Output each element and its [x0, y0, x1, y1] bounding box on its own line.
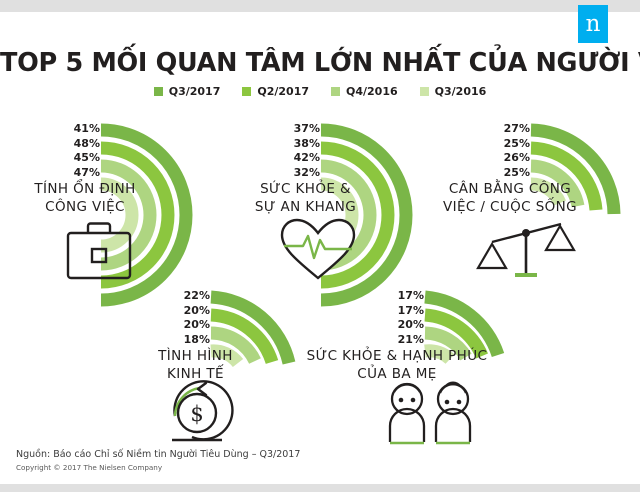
category-label-line2: SỰ AN KHANG [228, 198, 383, 216]
value-q2-2017: 20% [142, 304, 210, 319]
value-q4-2016: 20% [356, 318, 424, 333]
legend-item-q3-2017: Q3/2017 [154, 85, 221, 98]
category-label-line1: SỨC KHỎE & HẠNH PHÚC [292, 347, 502, 365]
panel-job-security: 41% 48% 45% 47% TÍNH ỔN ĐỊNH CÔNG VIỆC [38, 118, 223, 283]
value-q2-2017: 25% [462, 137, 530, 152]
value-q4-2016: 45% [32, 151, 100, 166]
value-q4-2016: 20% [142, 318, 210, 333]
value-q2-2017: 48% [32, 137, 100, 152]
category-label-line2: CỦA BA MẸ [292, 365, 502, 383]
panel-health-wellbeing: 37% 38% 42% 32% SỨC KHỎE & SỰ AN KHANG [258, 118, 443, 283]
value-q3-2017: 27% [462, 122, 530, 137]
infographic-root: n TOP 5 MỐI QUAN TÂM LỚN NHẤT CỦA NGƯỜI … [0, 0, 640, 492]
value-q3-2016: 21% [356, 333, 424, 348]
bottom-band [0, 484, 640, 492]
value-q3-2017: 37% [252, 122, 320, 137]
legend-label: Q4/2016 [346, 85, 398, 98]
value-q3-2016: 32% [252, 166, 320, 181]
copyright-text: Copyright © 2017 The Nielsen Company [16, 462, 300, 474]
value-column-economy: 22% 20% 20% 18% [142, 289, 210, 347]
category-label-work-life-balance: CÂN BẰNG CÔNG VIỆC / CUỘC SỐNG [424, 180, 596, 216]
value-q3-2016: 25% [462, 166, 530, 181]
legend-item-q4-2016: Q4/2016 [331, 85, 398, 98]
value-column-health-wellbeing: 37% 38% 42% 32% [252, 122, 320, 180]
legend-label: Q2/2017 [257, 85, 309, 98]
category-label-line2: CÔNG VIỆC [10, 198, 160, 216]
panel-work-life-balance: 27% 25% 26% 25% CÂN BẰNG CÔNG VIỆC / CUỘ… [468, 118, 640, 283]
legend-label: Q3/2016 [435, 85, 487, 98]
value-column-work-life-balance: 27% 25% 26% 25% [462, 122, 530, 180]
value-q3-2016: 47% [32, 166, 100, 181]
dollar-cycle-icon: $ [172, 381, 232, 440]
legend-item-q2-2017: Q2/2017 [242, 85, 309, 98]
parents-icon [390, 383, 470, 443]
value-q3-2016: 18% [142, 333, 210, 348]
category-label-job-security: TÍNH ỔN ĐỊNH CÔNG VIỆC [10, 180, 160, 216]
nielsen-logo: n [578, 5, 608, 43]
value-q4-2016: 26% [462, 151, 530, 166]
category-label-health-wellbeing: SỨC KHỎE & SỰ AN KHANG [228, 180, 383, 216]
category-label-line1: TÌNH HÌNH [118, 347, 273, 365]
category-label-economy: TÌNH HÌNH KINH TẾ [118, 347, 273, 383]
value-column-job-security: 41% 48% 45% 47% [32, 122, 100, 180]
balance-scale-icon [478, 224, 574, 275]
panel-parents-health: 17% 17% 20% 21% SỨC KHỎE & HẠNH PHÚC CỦA… [362, 285, 547, 450]
source-text: Nguồn: Báo cáo Chỉ số Niềm tin Người Tiê… [16, 448, 300, 462]
category-label-line1: TÍNH ỔN ĐỊNH [10, 180, 160, 198]
value-q2-2017: 38% [252, 137, 320, 152]
legend-swatch-icon [331, 87, 340, 96]
value-q3-2017: 41% [32, 122, 100, 137]
legend-label: Q3/2017 [169, 85, 221, 98]
heart-pulse-icon [282, 220, 354, 278]
value-q2-2017: 17% [356, 304, 424, 319]
category-label-line1: CÂN BẰNG CÔNG [424, 180, 596, 198]
legend-swatch-icon [154, 87, 163, 96]
legend-item-q3-2016: Q3/2016 [420, 85, 487, 98]
category-label-line1: SỨC KHỎE & [228, 180, 383, 198]
category-label-line2: KINH TẾ [118, 365, 273, 383]
value-column-parents-health: 17% 17% 20% 21% [356, 289, 424, 347]
category-label-line2: VIỆC / CUỘC SỐNG [424, 198, 596, 216]
value-q4-2016: 42% [252, 151, 320, 166]
footer: Nguồn: Báo cáo Chỉ số Niềm tin Người Tiê… [16, 448, 300, 474]
category-label-parents-health: SỨC KHỎE & HẠNH PHÚC CỦA BA MẸ [292, 347, 502, 383]
top-band [0, 0, 640, 12]
svg-text:$: $ [190, 402, 203, 426]
legend: Q3/2017 Q2/2017 Q4/2016 Q3/2016 [0, 85, 640, 98]
value-q3-2017: 22% [142, 289, 210, 304]
legend-swatch-icon [242, 87, 251, 96]
legend-swatch-icon [420, 87, 429, 96]
page-title: TOP 5 MỐI QUAN TÂM LỚN NHẤT CỦA NGƯỜI VI… [0, 48, 640, 78]
value-q3-2017: 17% [356, 289, 424, 304]
